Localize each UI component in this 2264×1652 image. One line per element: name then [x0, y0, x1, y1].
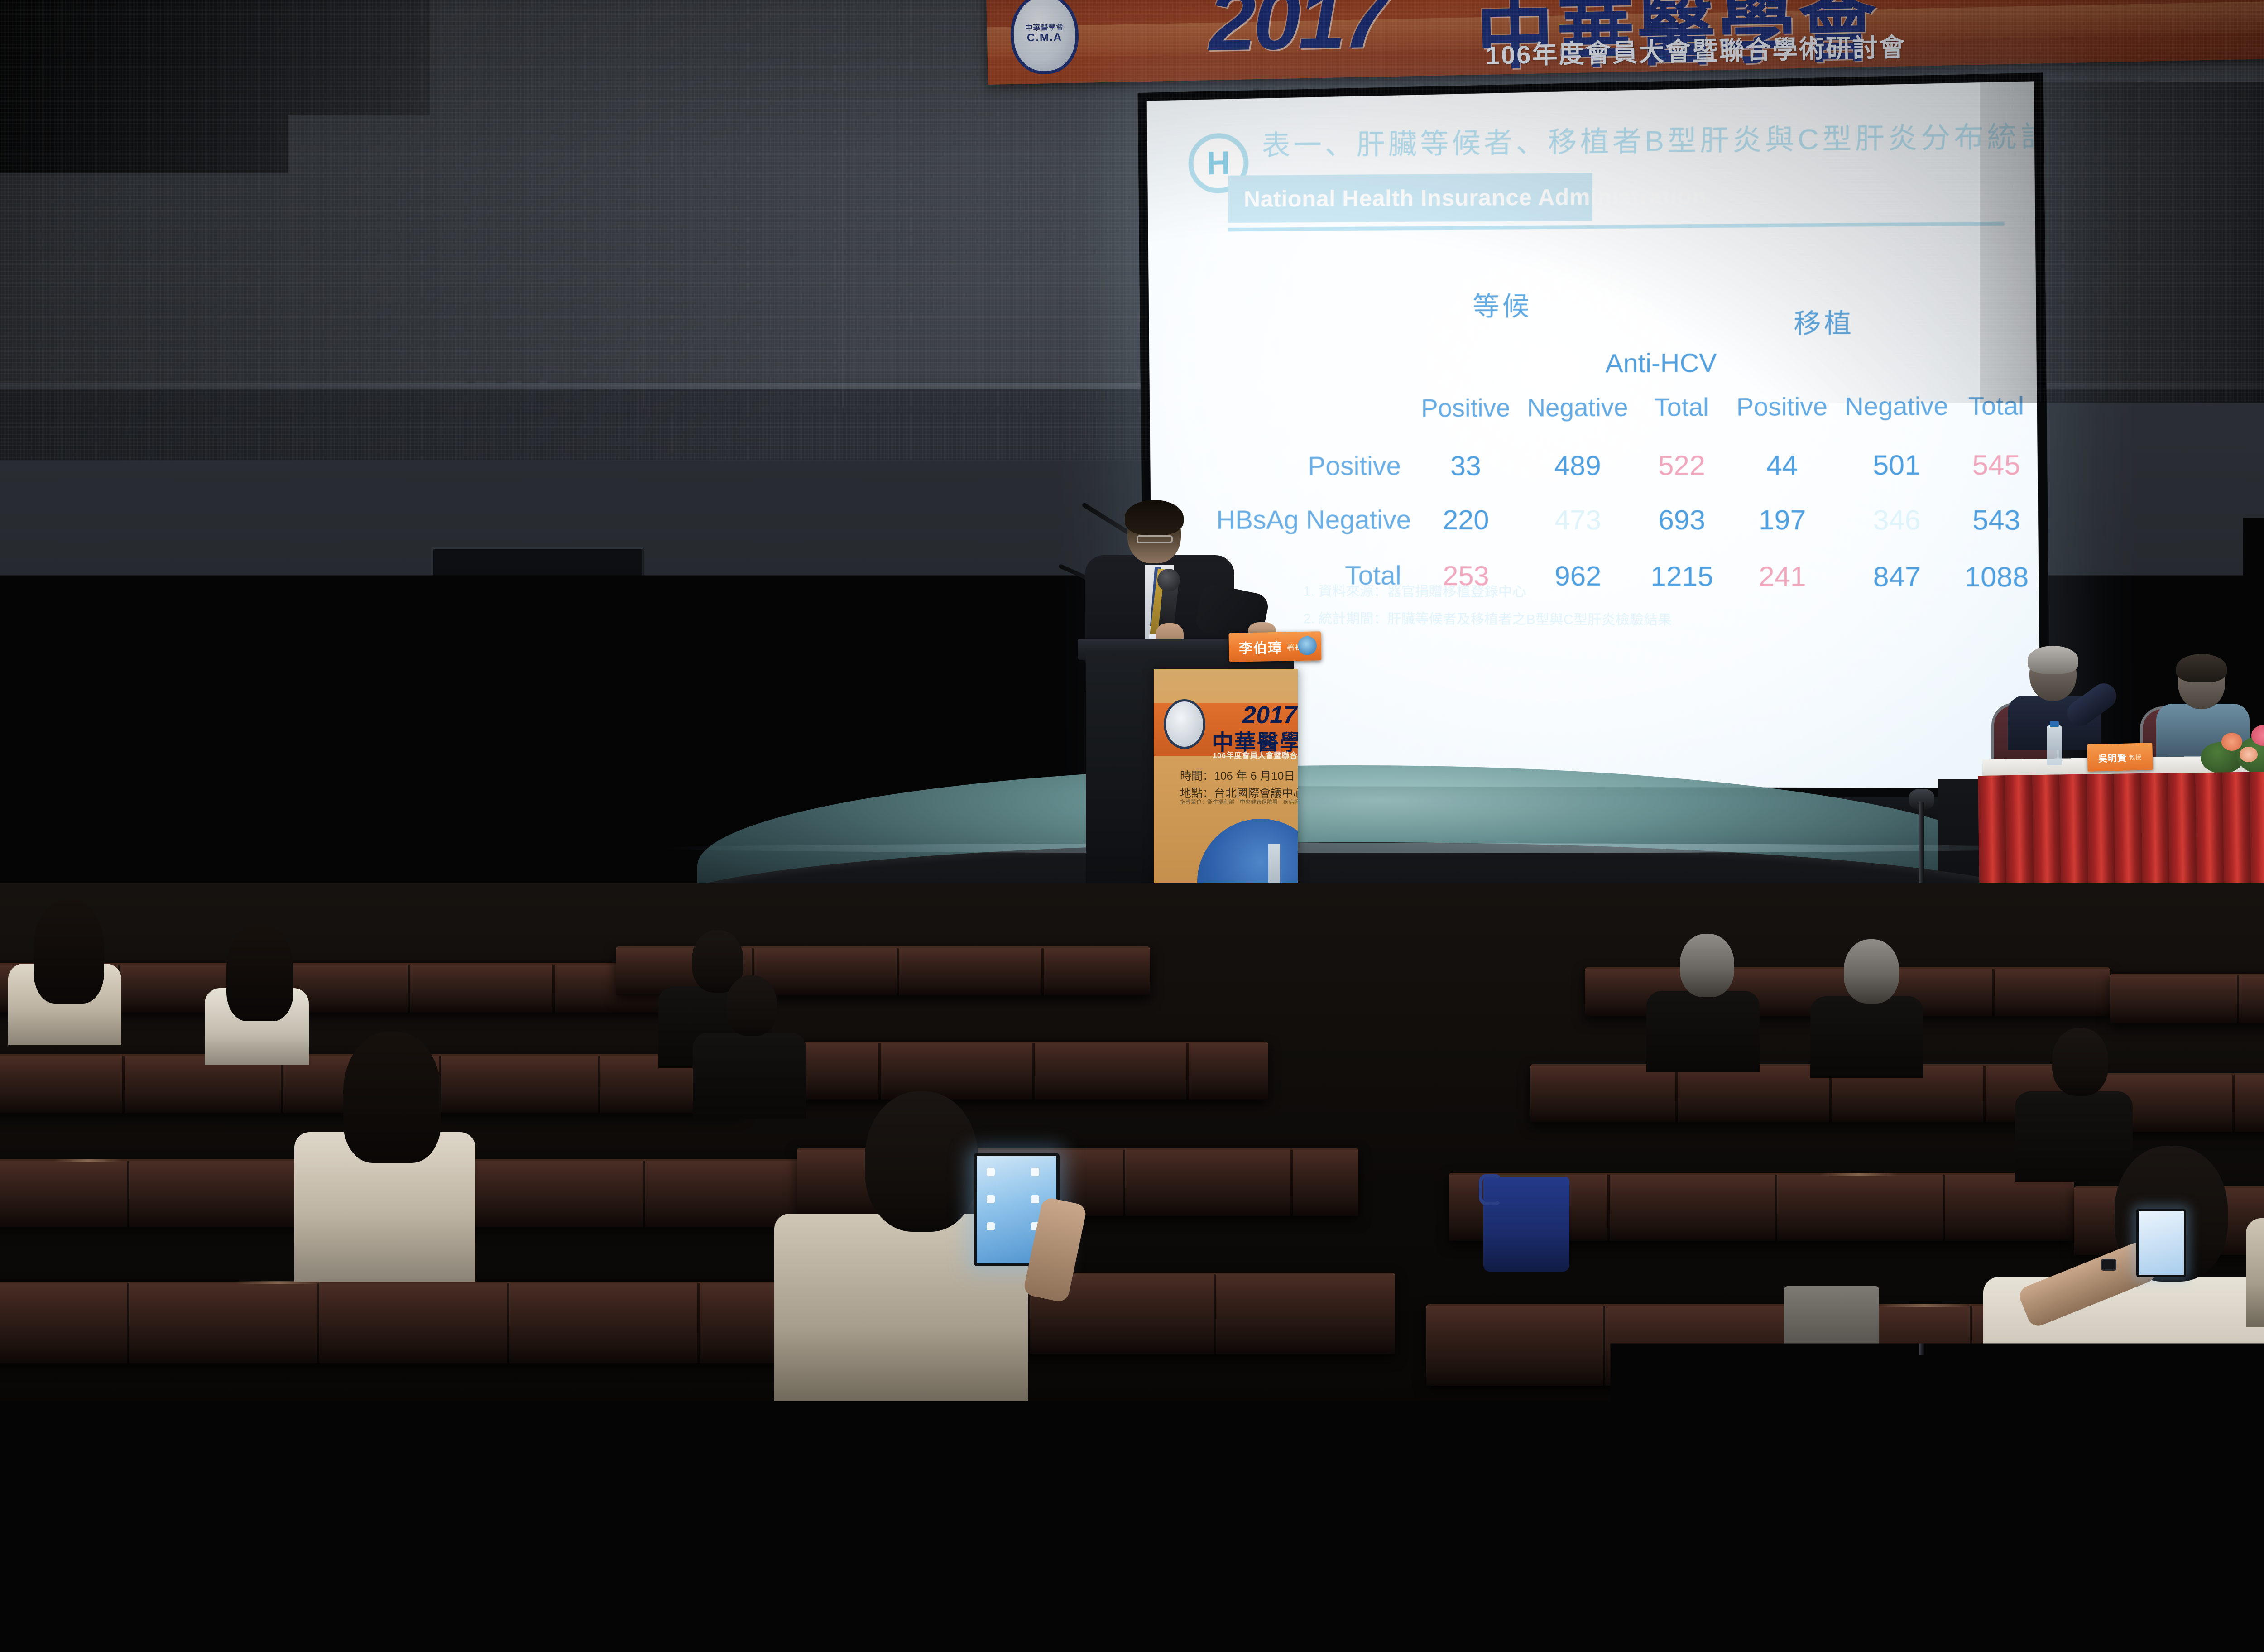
speaker-glasses	[1137, 535, 1173, 543]
measure-label: Anti-HCV	[1605, 348, 1717, 379]
nameplate-name: 吳明賢	[2098, 750, 2127, 764]
cell-value: 847	[1838, 561, 1956, 593]
head-table-nameplate-left: 吳明賢 教授	[2087, 743, 2153, 772]
audience-hair	[34, 899, 104, 1004]
slide-footnotes: 1. 資料來源：器官捐贈移植登錄中心 2. 統計期間：肝臟等候者及移植者之B型與…	[1303, 580, 1672, 636]
water-bottle	[2047, 725, 2062, 765]
col-header-t-tot: Total	[1955, 391, 2037, 421]
cell-value: 220	[1413, 504, 1519, 536]
table-header-row: Positive Positive Negative Total Positiv…	[1216, 391, 2011, 423]
flower-bloom	[2221, 733, 2242, 751]
nhia-org-name: National Health Insurance Administration	[1228, 183, 1706, 212]
door-highlight	[442, 607, 578, 611]
cell-value: 522	[1637, 449, 1726, 481]
cell-value: 473	[1519, 504, 1637, 536]
col-header-w-neg: Negative	[1518, 393, 1637, 423]
podium-nameplate-emblem	[1298, 636, 1317, 655]
audience-torso	[693, 1032, 806, 1119]
cell-value: 346	[1838, 504, 1956, 536]
seat-row[interactable]	[1426, 1304, 2069, 1386]
col-header-w-pos: Positive	[1413, 393, 1518, 423]
podium-meta: 時間：106 年 6 月10日 地點：台北國際會議中心	[1180, 768, 1298, 802]
blue-bag	[1483, 1177, 1569, 1272]
seat-row[interactable]	[734, 1042, 1268, 1100]
cell-value: 1088	[1956, 561, 2038, 593]
nameplate-role: 教授	[2129, 752, 2142, 761]
stage-edge-highlight	[657, 843, 2060, 853]
crest-cma-text: C.M.A	[1027, 31, 1063, 44]
flower-bloom	[2240, 747, 2258, 762]
audience-torso	[2015, 1091, 2133, 1182]
handheld-microphone-head	[1157, 569, 1180, 591]
audience-head	[2052, 1028, 2108, 1096]
seat-row[interactable]	[0, 1426, 924, 1531]
row-label: Positive	[1216, 451, 1413, 481]
seat-row[interactable]	[2110, 974, 2264, 1023]
cell-value: 241	[1727, 561, 1838, 593]
nhia-logo-letter: H	[1206, 144, 1231, 182]
cell-value: 33	[1413, 450, 1519, 482]
slide-data-table: 等候 移植 Anti-HCV Positive Positive Negativ…	[1216, 281, 2011, 337]
audience-torso	[2164, 1558, 2264, 1652]
table-row: Positive 33 489 522 44 501 545	[1216, 449, 2011, 482]
nhia-org-band: National Health Insurance Administration	[1228, 173, 1592, 223]
cell-value: 197	[1727, 504, 1838, 536]
row-label: HBsAg Negative	[1216, 504, 1413, 535]
slide-title: 表一、肝臟等候者、移植者B型肝炎與C型肝炎分布統計	[1262, 113, 2041, 163]
grey-bag	[1784, 1286, 1879, 1377]
crest-top-text: 中華醫學會	[1025, 23, 1064, 32]
cell-value: 489	[1519, 450, 1637, 482]
audience-head	[726, 975, 777, 1036]
audience-head	[1680, 934, 1734, 997]
seat-row[interactable]	[1793, 1449, 2264, 1556]
col-header-w-tot: Total	[1637, 392, 1726, 422]
audience-seating-area	[0, 883, 2264, 1652]
cell-value: 543	[1956, 504, 2038, 536]
wall-panel-seam	[643, 0, 644, 408]
cell-value: 545	[1956, 449, 2038, 481]
col-header-t-pos: Positive	[1726, 392, 1838, 422]
phone-device[interactable]	[2136, 1209, 2186, 1277]
wall-panel-seam	[842, 0, 844, 408]
podium-organizers: 指導單位：衛生福利部 中央健康保險署 疾病管制署 主辦單位：中華醫學會	[1180, 798, 1298, 807]
wall-light-switch[interactable]	[185, 729, 205, 757]
podium-nameplate-name: 李伯璋	[1229, 637, 1283, 658]
wall-panel-seam	[290, 0, 291, 408]
bag-handle	[1479, 1174, 1502, 1205]
conference-hall-photo: 中華醫學會 C.M.A 2017 中華醫學會 106年度會員大會暨聯合學術研討會…	[0, 0, 2264, 1652]
audience-head	[1844, 939, 1899, 1004]
cma-crest-logo: 中華醫學會 C.M.A	[1010, 0, 1079, 75]
panelist-hair	[2028, 646, 2078, 674]
audience-head	[865, 1091, 978, 1232]
banner-year: 2017	[1208, 0, 1388, 70]
footnote-item: 1. 資料來源：器官捐贈移植登錄中心	[1303, 580, 1672, 601]
audience-torso	[2246, 1218, 2264, 1327]
speaker-hair	[1125, 500, 1184, 535]
podium-cma-crest-icon	[1164, 699, 1205, 749]
seat-row[interactable]	[933, 1454, 1431, 1558]
group-header-waiting: 等候	[1473, 284, 1532, 323]
wristwatch	[2101, 1259, 2116, 1271]
table-row: HBsAg Negative 220 473 693 197 346 543	[1216, 504, 2011, 536]
stage-left-door[interactable]	[431, 547, 644, 923]
slide-header-rule	[1228, 222, 2005, 231]
podium-subtitle: 106年度會員大會暨聯合學術研討會	[1213, 749, 1298, 760]
audience-hair	[343, 1032, 441, 1163]
cell-value: 693	[1637, 504, 1727, 536]
footnote-item: 2. 統計期間：肝臟等候者及移植者之B型與C型肝炎檢驗結果	[1303, 607, 1672, 629]
group-header-transplant: 移植	[1794, 302, 1854, 341]
audience-torso	[1646, 991, 1760, 1072]
audience-head	[145, 1426, 263, 1562]
col-header-t-neg: Negative	[1838, 391, 1955, 422]
podium-nameplate: 李伯璋 署長	[1228, 631, 1321, 662]
audience-torso	[1810, 996, 1923, 1078]
podium-date: 時間：106 年 6 月10日	[1180, 768, 1298, 785]
panelist-hair	[2176, 654, 2227, 682]
cell-value: 501	[1838, 449, 1955, 481]
cell-value: 44	[1727, 449, 1838, 481]
seat-row[interactable]	[0, 1282, 851, 1363]
bottle-cap	[2050, 721, 2059, 727]
floral-arrangement	[2192, 714, 2264, 777]
audience-hair	[226, 924, 293, 1021]
